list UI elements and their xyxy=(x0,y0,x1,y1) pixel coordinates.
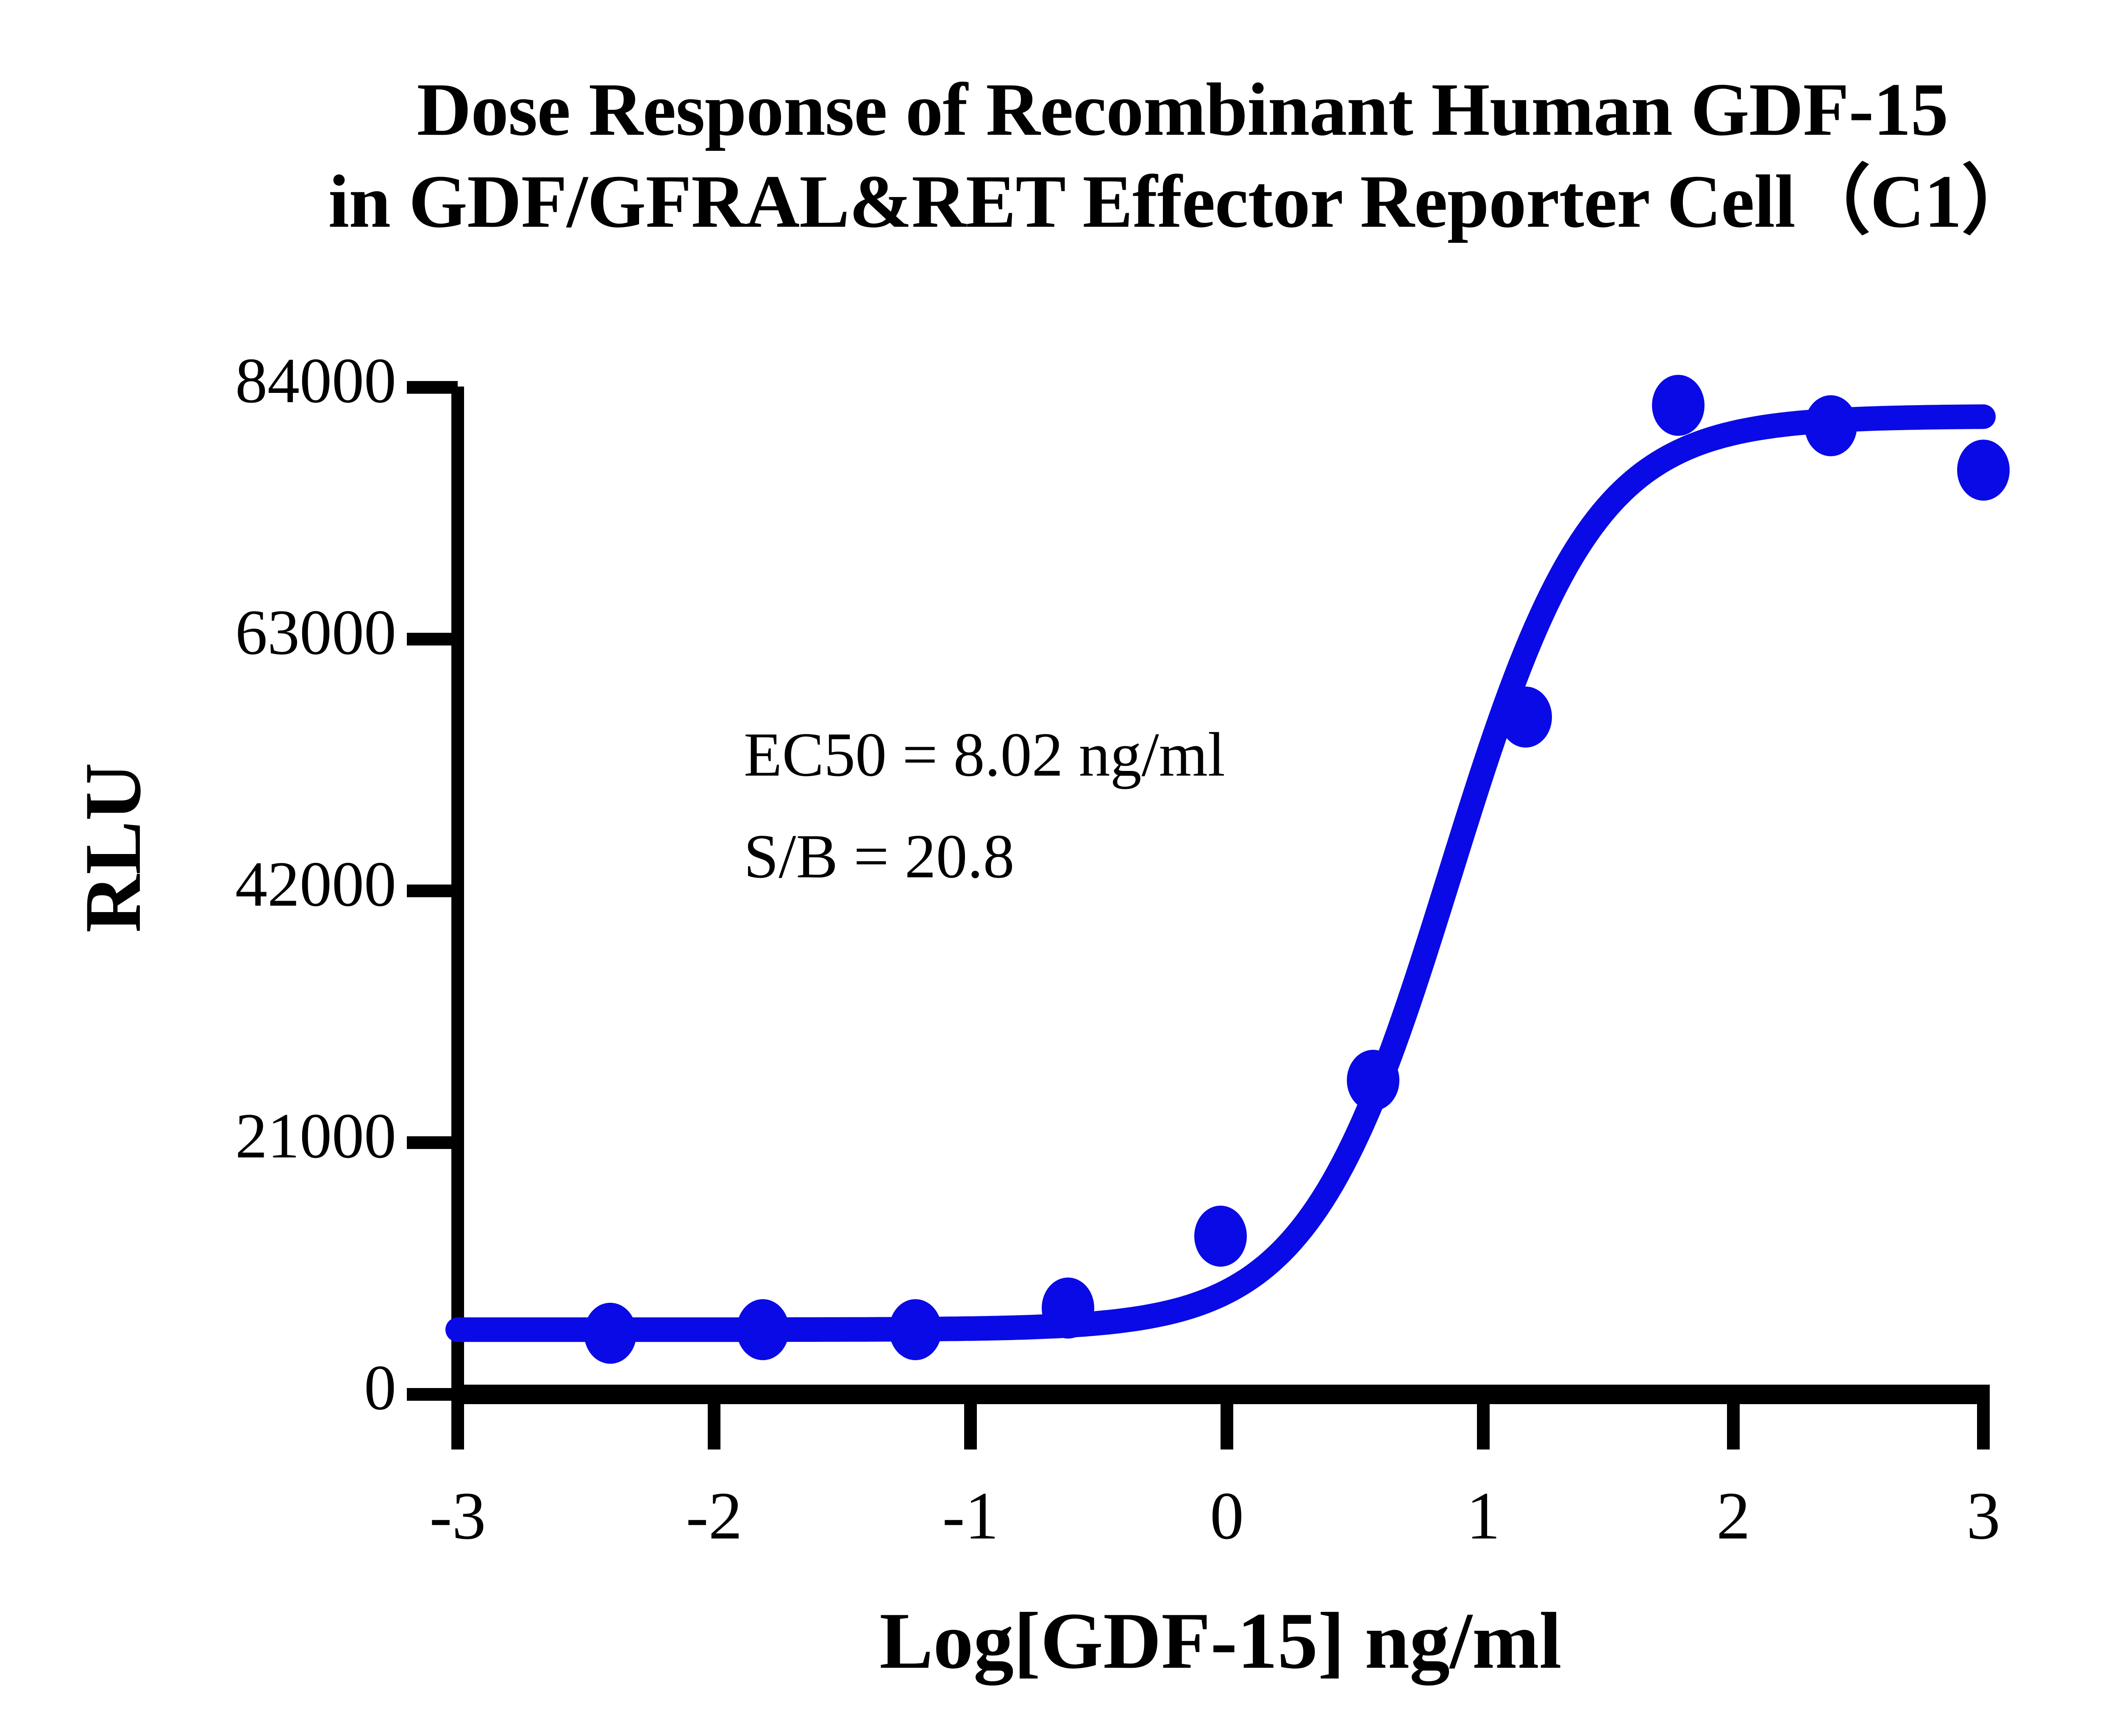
x-tick-label--3: -3 xyxy=(429,1478,486,1553)
y-axis-tick-labels: 0 21000 42000 63000 84000 xyxy=(235,345,396,1423)
y-axis-title: RLU xyxy=(69,762,158,932)
x-tick-label-3: 3 xyxy=(1966,1478,2000,1553)
x-tick-label-0: 0 xyxy=(1210,1478,1244,1553)
x-axis-title: Log[GDF-15] ng/ml xyxy=(879,1597,1562,1686)
chart-canvas: Dose Response of Recombinant Human GDF-1… xyxy=(0,0,2119,1736)
y-tick-label-21000: 21000 xyxy=(235,1100,396,1171)
data-point xyxy=(737,1299,789,1360)
data-point xyxy=(889,1299,942,1360)
data-point xyxy=(1652,375,1705,436)
fit-curve xyxy=(458,417,1983,1330)
y-axis-ticks xyxy=(407,387,458,1394)
data-point xyxy=(584,1303,637,1364)
x-tick-label--1: -1 xyxy=(942,1478,998,1553)
y-tick-label-0: 0 xyxy=(364,1352,396,1423)
data-point xyxy=(1347,1050,1399,1111)
x-tick-label-2: 2 xyxy=(1716,1478,1750,1553)
annotation-ec50: EC50 = 8.02 ng/ml xyxy=(744,720,1225,790)
data-point xyxy=(1194,1206,1247,1267)
data-point xyxy=(1805,395,1857,456)
y-tick-label-63000: 63000 xyxy=(235,597,396,668)
data-point xyxy=(1499,687,1552,748)
x-tick-label-1: 1 xyxy=(1466,1478,1500,1553)
dose-response-plot: 0 21000 42000 63000 84000 -3 -2 -1 0 1 2… xyxy=(0,0,2119,1736)
x-axis-tick-labels: -3 -2 -1 0 1 2 3 xyxy=(429,1478,2000,1553)
data-point xyxy=(1957,440,2010,501)
annotation-sb: S/B = 20.8 xyxy=(744,822,1015,891)
y-tick-label-42000: 42000 xyxy=(235,849,396,920)
data-point xyxy=(1042,1277,1094,1338)
x-tick-label--2: -2 xyxy=(686,1478,742,1553)
y-tick-label-84000: 84000 xyxy=(235,345,396,416)
